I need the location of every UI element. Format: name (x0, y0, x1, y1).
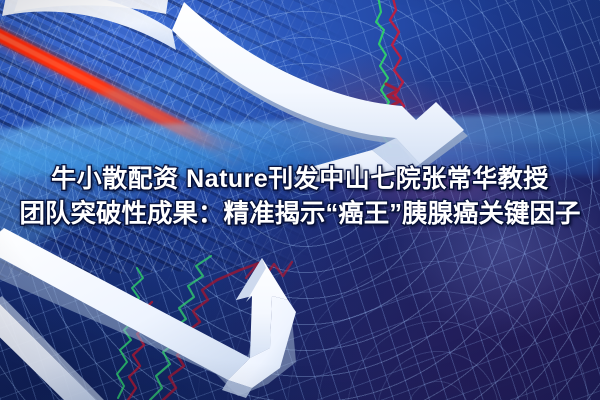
cover-image-banner: 牛小散配资 Nature刊发中山七院张常华教授 团队突破性成果：精准揭示“癌王”… (0, 0, 600, 400)
vignette-overlay (0, 0, 600, 400)
